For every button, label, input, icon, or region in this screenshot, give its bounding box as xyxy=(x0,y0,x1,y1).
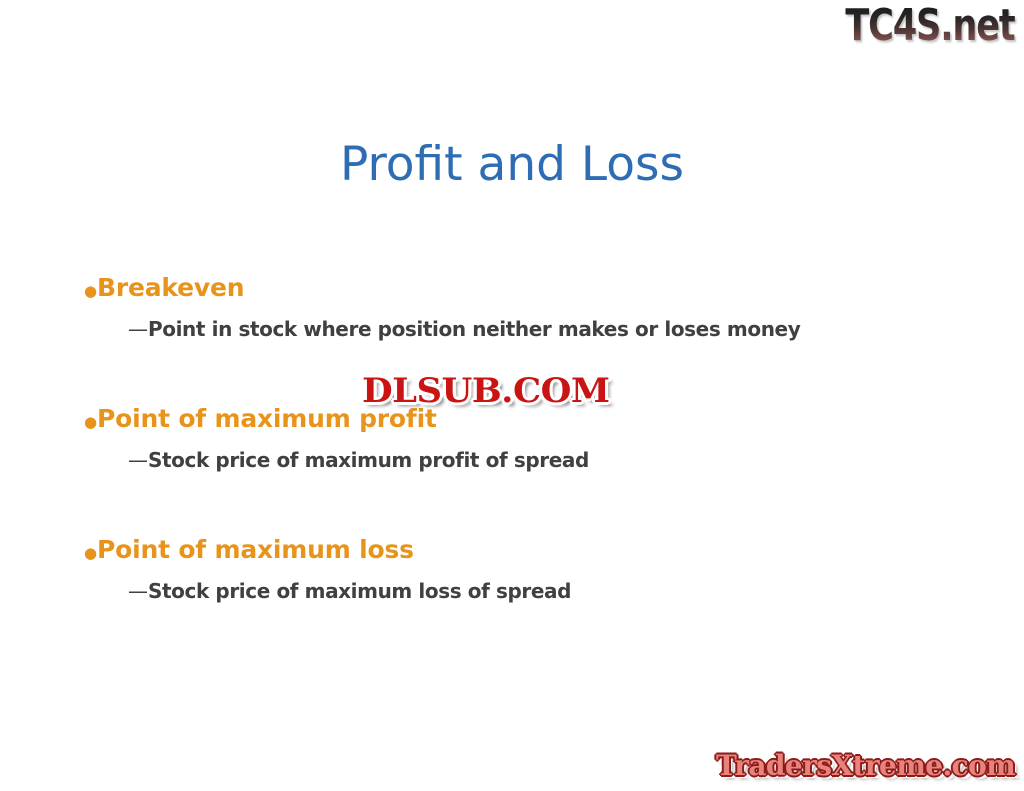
bullet-group-breakeven: ● Breakeven — Point in stock where posit… xyxy=(72,271,972,344)
dash-icon: — xyxy=(128,314,148,344)
sub-bullet-item: — Point in stock where position neither … xyxy=(72,314,972,344)
slide-canvas: TC4S.net Profit and Loss ● Breakeven — P… xyxy=(0,0,1024,791)
dash-icon: — xyxy=(128,445,148,475)
page-title: Profit and Loss xyxy=(0,137,1024,193)
tradersxtreme-footer-logo: TradersXtreme.com xyxy=(716,749,1015,783)
bullet-group-max-profit: ● Point of maximum profit — Stock price … xyxy=(72,402,972,475)
sub-bullet-label: Stock price of maximum profit of spread xyxy=(148,445,589,475)
sub-bullet-label: Stock price of maximum loss of spread xyxy=(148,576,571,606)
sub-bullet-label: Point in stock where position neither ma… xyxy=(148,314,800,344)
sub-bullet-item: — Stock price of maximum loss of spread xyxy=(72,576,972,606)
bullet-item: ● Point of maximum loss xyxy=(72,533,972,570)
bullet-group-max-loss: ● Point of maximum loss — Stock price of… xyxy=(72,533,972,606)
bullet-dot-icon: ● xyxy=(72,536,97,570)
bullet-label: Point of maximum loss xyxy=(97,533,414,567)
bullet-item: ● Breakeven xyxy=(72,271,972,308)
sub-bullet-item: — Stock price of maximum profit of sprea… xyxy=(72,445,972,475)
bullet-list: ● Breakeven — Point in stock where posit… xyxy=(72,271,972,620)
dlsub-watermark: DLSUB.COM xyxy=(362,372,610,410)
dash-icon: — xyxy=(128,576,148,606)
bullet-dot-icon: ● xyxy=(72,274,97,308)
bullet-label: Breakeven xyxy=(97,271,244,305)
bullet-dot-icon: ● xyxy=(72,405,97,439)
tc4s-brand-logo: TC4S.net xyxy=(846,2,1015,50)
